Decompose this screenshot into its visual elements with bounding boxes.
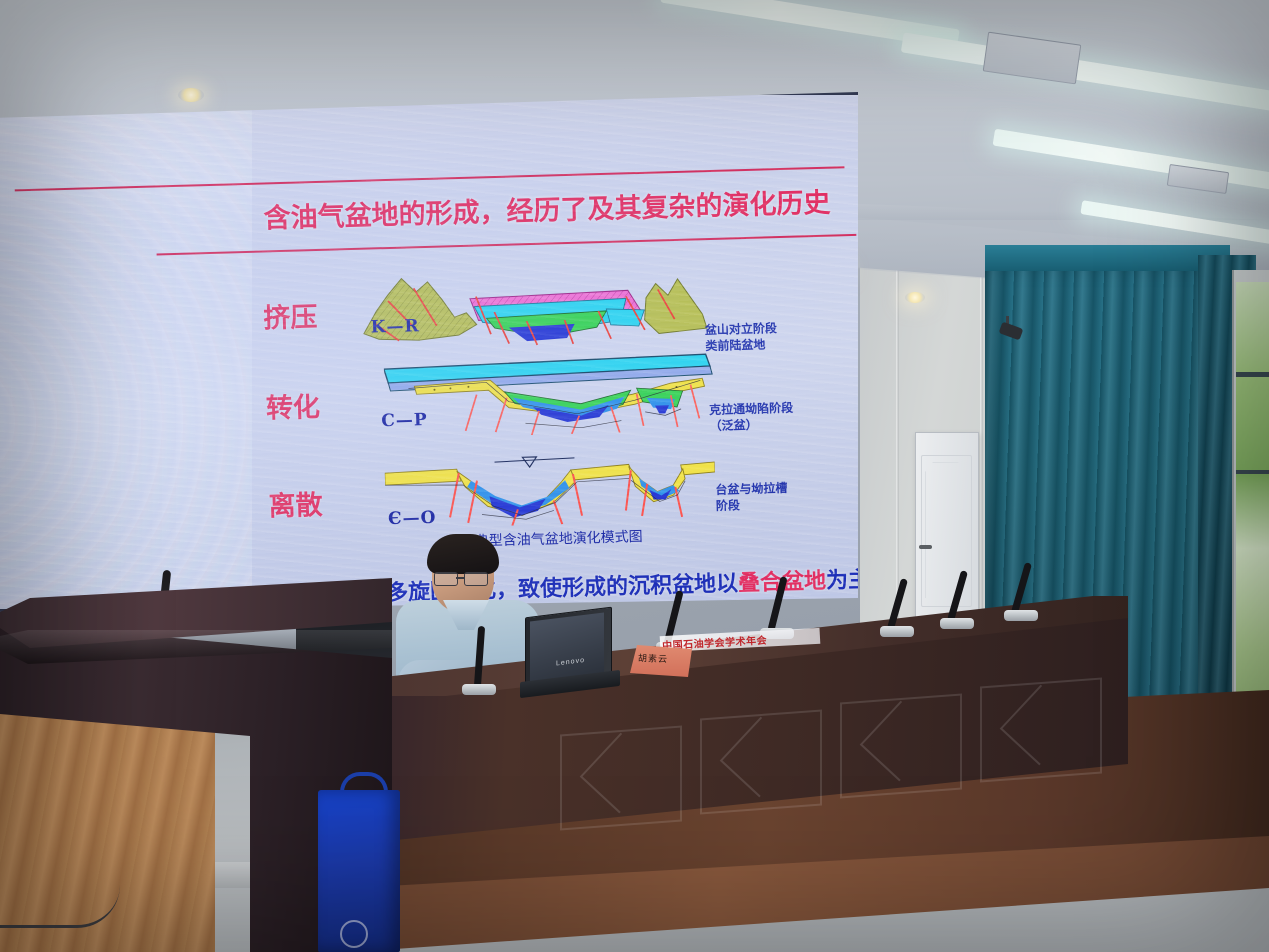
name-placard-text: 胡素云	[638, 651, 688, 666]
period-label-co: Є—O	[388, 508, 437, 529]
door-handle[interactable]	[919, 545, 932, 549]
led-wall-screen[interactable]: 含油气盆地的形成，经历了及其复杂的演化历史 挤压 转化 离散	[0, 92, 864, 612]
window-glass	[1236, 282, 1269, 712]
period-label-kr: K—R	[370, 316, 419, 337]
screenshot-root: 含油气盆地的形成，经历了及其复杂的演化历史 挤压 转化 离散	[0, 0, 1269, 952]
speaker-hair	[427, 534, 499, 574]
annotation-transition: 克拉通坳陷阶段 （泛盆）	[709, 400, 794, 435]
window-mullion	[1236, 470, 1269, 474]
cross-section-transition	[384, 352, 716, 439]
stage-label-transition: 转化	[265, 385, 320, 425]
microphone[interactable]	[880, 578, 920, 644]
annotation-line: 台盆与坳拉槽	[715, 480, 787, 498]
stage-label-compression: 挤压	[263, 295, 318, 335]
window-mullion	[1236, 372, 1269, 377]
annotation-compression: 盆山对立阶段 类前陆盆地	[705, 320, 778, 354]
ceiling-downlight	[178, 88, 204, 102]
speaker-glasses	[434, 572, 492, 584]
laptop-screen	[530, 612, 604, 681]
ceiling-downlight	[905, 292, 925, 303]
annotation-line: 类前陆盆地	[705, 336, 777, 354]
annotation-extension: 台盆与坳拉槽 阶段	[715, 480, 788, 514]
microphone[interactable]	[462, 626, 502, 700]
annotation-line: （泛盆）	[709, 416, 793, 435]
slide-rule-bottom	[157, 234, 857, 256]
period-label-cp: C—P	[381, 410, 428, 431]
slide-content: 含油气盆地的形成，经历了及其复杂的演化历史 挤压 转化 离散	[0, 68, 878, 612]
cross-section-compression	[357, 262, 709, 352]
microphone[interactable]	[1004, 562, 1044, 628]
annotation-line: 克拉通坳陷阶段	[709, 400, 793, 419]
stage-label-extension: 离散	[268, 483, 323, 523]
annotation-line: 盆山对立阶段	[705, 320, 777, 338]
tote-bag-logo	[340, 920, 368, 948]
slide-title: 含油气盆地的形成，经历了及其复杂的演化历史	[263, 181, 831, 236]
microphone[interactable]	[940, 570, 980, 636]
curtain-rail	[985, 245, 1230, 271]
annotation-line: 阶段	[716, 496, 788, 514]
